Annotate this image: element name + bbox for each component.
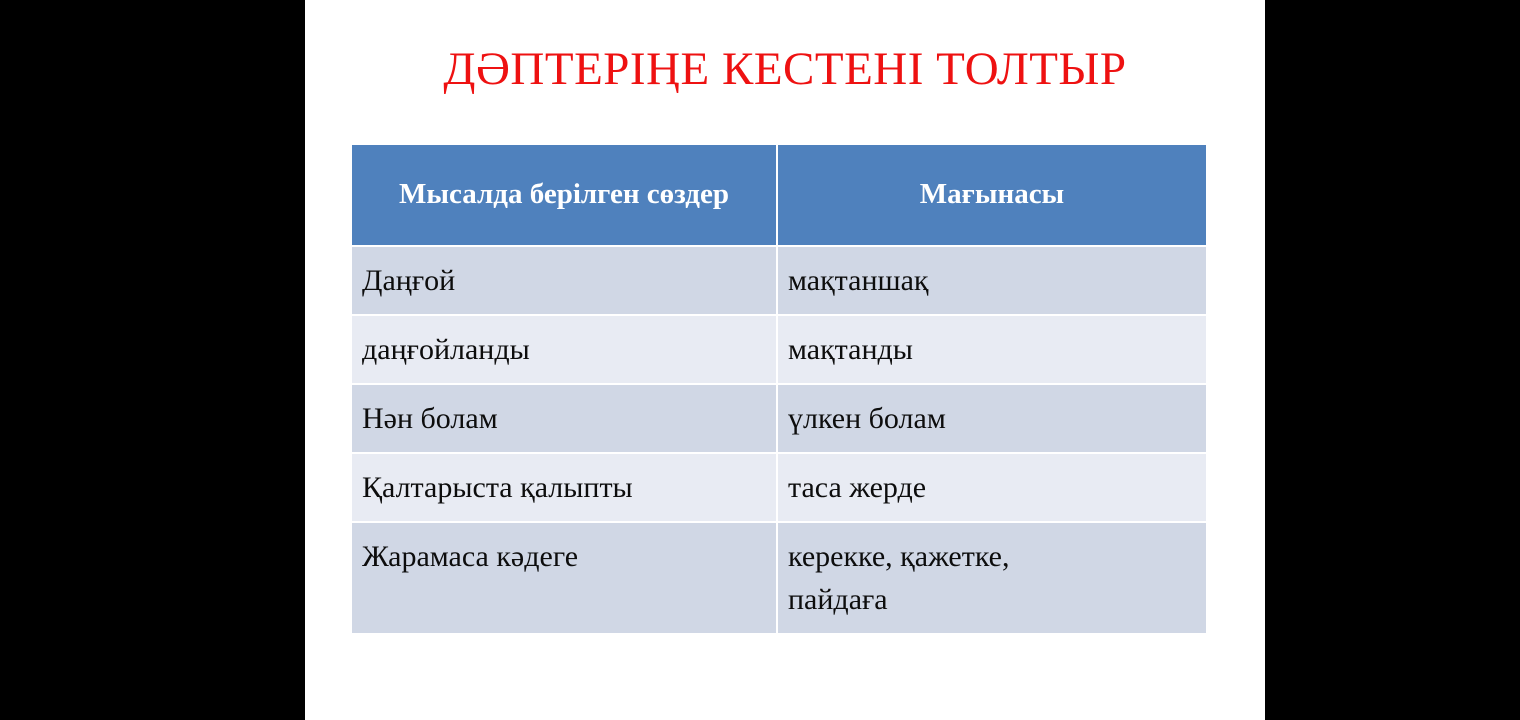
- cell-meaning-line-1: мақтаншақ: [788, 259, 1194, 302]
- table-row: Қалтарыста қалыпты таса жерде: [352, 454, 1206, 523]
- cell-word: Даңғой: [352, 247, 778, 316]
- table-row: даңғойланды мақтанды: [352, 316, 1206, 385]
- cell-meaning-line-2: пайдаға: [788, 578, 1194, 621]
- table-body: Даңғой мақтаншақ даңғойланды мақтанды: [352, 247, 1206, 633]
- column-header-meaning: Мағынасы: [778, 145, 1206, 247]
- cell-word-text: Қалтарыста қалыпты: [362, 466, 764, 509]
- cell-word: Қалтарыста қалыпты: [352, 454, 778, 523]
- table-row: Нән болам үлкен болам: [352, 385, 1206, 454]
- table-header-row: Мысалда берілген сөздер Мағынасы: [352, 145, 1206, 247]
- cell-word: Жарамаса кәдеге: [352, 523, 778, 633]
- letterbox-right: [1265, 0, 1520, 720]
- column-header-words-label: Мысалда берілген сөздер: [364, 171, 764, 217]
- cell-meaning-line-1: үлкен болам: [788, 397, 1194, 440]
- cell-meaning-line-1: мақтанды: [788, 328, 1194, 371]
- table-header: Мысалда берілген сөздер Мағынасы: [352, 145, 1206, 247]
- cell-meaning: мақтанды: [778, 316, 1206, 385]
- column-header-words: Мысалда берілген сөздер: [352, 145, 778, 247]
- table-row: Даңғой мақтаншақ: [352, 247, 1206, 316]
- cell-meaning: мақтаншақ: [778, 247, 1206, 316]
- cell-word: Нән болам: [352, 385, 778, 454]
- cell-word-text: Даңғой: [362, 259, 764, 302]
- table-row: Жарамаса кәдеге керекке, қажетке, пайдағ…: [352, 523, 1206, 633]
- page-title: ДӘПТЕРІҢЕ КЕСТЕНІ ТОЛТЫР: [305, 40, 1265, 98]
- cell-word: даңғойланды: [352, 316, 778, 385]
- cell-word-text: Нән болам: [362, 397, 764, 440]
- cell-word-text: Жарамаса кәдеге: [362, 535, 764, 578]
- cell-meaning: үлкен болам: [778, 385, 1206, 454]
- cell-meaning-line-1: керекке, қажетке,: [788, 535, 1194, 578]
- column-header-meaning-label: Мағынасы: [790, 171, 1194, 217]
- cell-word-text: даңғойланды: [362, 328, 764, 371]
- slide-stage: ДӘПТЕРІҢЕ КЕСТЕНІ ТОЛТЫР Мысалда берілге…: [0, 0, 1520, 720]
- slide-canvas: ДӘПТЕРІҢЕ КЕСТЕНІ ТОЛТЫР Мысалда берілге…: [305, 0, 1265, 720]
- cell-meaning: таса жерде: [778, 454, 1206, 523]
- cell-meaning: керекке, қажетке, пайдаға: [778, 523, 1206, 633]
- cell-meaning-line-1: таса жерде: [788, 466, 1194, 509]
- vocabulary-table: Мысалда берілген сөздер Мағынасы Даңғой …: [352, 145, 1206, 633]
- letterbox-left: [0, 0, 305, 720]
